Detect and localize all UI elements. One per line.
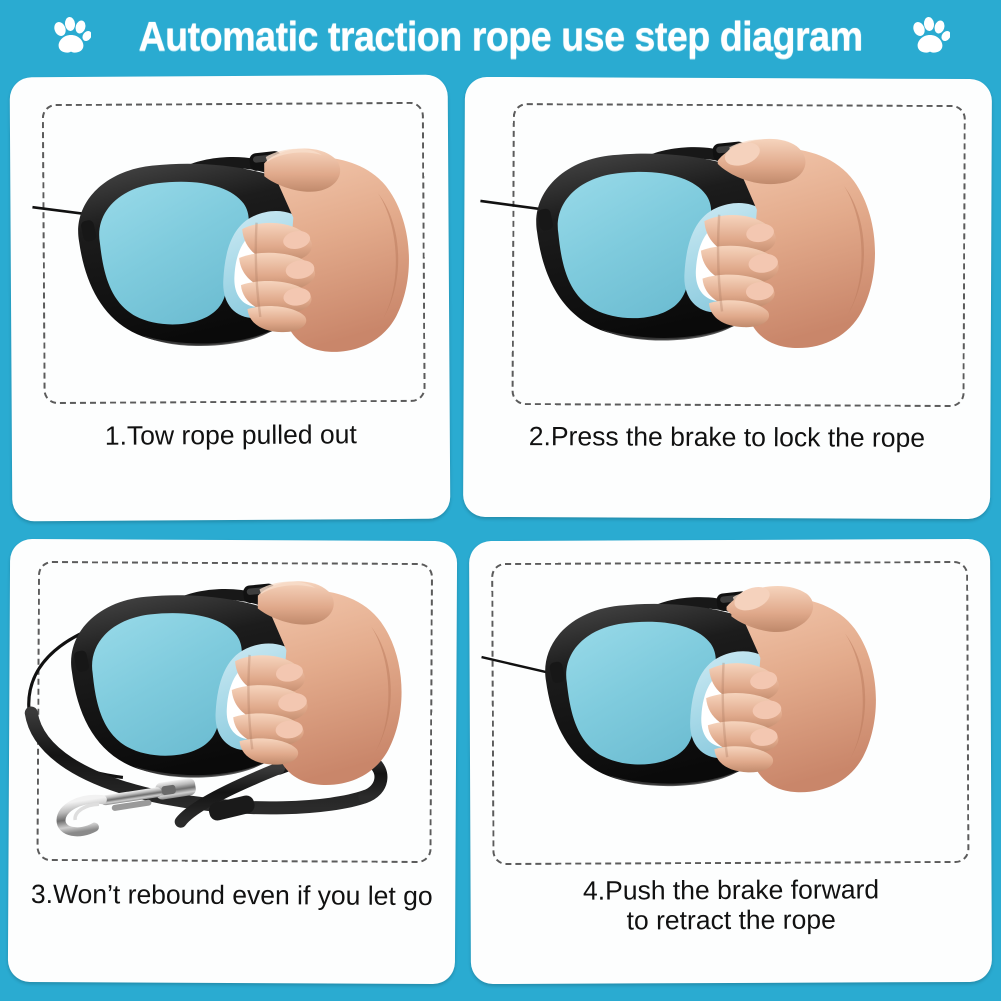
step-caption-1: 1.Tow rope pulled out [12,420,450,452]
step-card-4: 4.Push the brake forward to retract the … [469,539,992,984]
poster-root: Automatic traction rope use step diagram [0,0,1001,1001]
step-caption-4-line-2: to retract the rope [471,905,992,937]
step-caption-4-line-1: 4.Push the brake forward [471,875,992,907]
illustration-step-1 [10,75,451,522]
step-caption-2: 2.Press the brake to lock the rope [463,422,990,454]
poster-header: Automatic traction rope use step diagram [0,0,1001,72]
paw-print-icon [910,17,950,55]
illustration-step-3 [8,539,457,984]
paw-print-icon [51,17,91,55]
step-caption-3: 3.Won’t rebound even if you let go [8,880,455,912]
step-card-1: 1.Tow rope pulled out [10,75,451,522]
step-card-3: 3.Won’t rebound even if you let go [8,539,457,984]
page-title: Automatic traction rope use step diagram [138,13,862,60]
step-caption-4: 4.Push the brake forward to retract the … [471,875,992,937]
step-card-2: 2.Press the brake to lock the rope [463,77,992,519]
